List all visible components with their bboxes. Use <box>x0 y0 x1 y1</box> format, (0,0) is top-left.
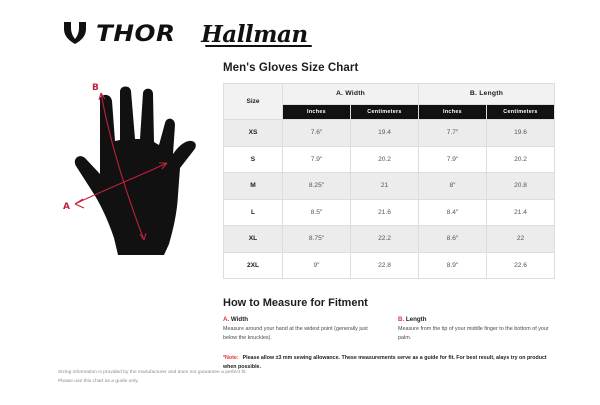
cell-length-centimeters: 22.6 <box>487 252 555 279</box>
how-to-item-width: A. Width Measure around your hand at the… <box>223 316 380 343</box>
column-group-length: B. Length <box>419 84 555 105</box>
cell-size: S <box>224 146 283 173</box>
measure-label-a: A <box>63 202 70 212</box>
how-to-item-length: B. Length Measure from the tip of your m… <box>398 316 555 343</box>
cell-length-centimeters: 22 <box>487 226 555 253</box>
size-chart-panel: Men's Gloves Size Chart Size A. Width B.… <box>223 62 555 371</box>
sizing-note: *Note:Please allow ±3 mm sewing allowanc… <box>223 354 553 371</box>
cell-size: XS <box>224 120 283 147</box>
cell-width-inches: 7.9″ <box>283 146 351 173</box>
cell-length-inches: 8.9″ <box>419 252 487 279</box>
table-row: XS 7.6″ 19.4 7.7″ 19.6 <box>224 120 555 147</box>
measure-label-b: B <box>92 83 99 93</box>
cell-width-centimeters: 21 <box>351 173 419 200</box>
cell-width-centimeters: 19.4 <box>351 120 419 147</box>
how-to-item-length-body: Measure from the tip of your middle fing… <box>398 325 555 343</box>
table-body: XS 7.6″ 19.4 7.7″ 19.6 S 7.9″ 20.2 7.9″ … <box>224 120 555 279</box>
column-header-width-inches: Inches <box>283 104 351 119</box>
cell-length-centimeters: 19.6 <box>487 120 555 147</box>
disclaimer-line-1: Sizing information is provided by the ma… <box>58 368 247 377</box>
cell-length-inches: 8.4″ <box>419 199 487 226</box>
cell-width-inches: 7.6″ <box>283 120 351 147</box>
cell-length-inches: 8″ <box>419 173 487 200</box>
column-header-size: Size <box>224 84 283 120</box>
hand-measurement-diagram: A B <box>56 62 216 262</box>
disclaimer-line-2: Please use this chart as a guide only. <box>58 377 247 386</box>
cell-size: 2XL <box>224 252 283 279</box>
cell-width-inches: 8.5″ <box>283 199 351 226</box>
table-row: M 8.25″ 21 8″ 20.8 <box>224 173 555 200</box>
brand-header: THOR Hallman <box>62 14 308 54</box>
thor-wordmark: THOR <box>96 22 176 47</box>
cell-length-inches: 7.9″ <box>419 146 487 173</box>
cell-length-inches: 8.6″ <box>419 226 487 253</box>
cell-length-centimeters: 20.8 <box>487 173 555 200</box>
column-group-width: A. Width <box>283 84 419 105</box>
how-to-item-width-body: Measure around your hand at the widest p… <box>223 325 380 343</box>
disclaimer: Sizing information is provided by the ma… <box>58 368 247 386</box>
cell-width-inches: 8.25″ <box>283 173 351 200</box>
cell-width-centimeters: 21.6 <box>351 199 419 226</box>
how-to-measure-section: How to Measure for Fitment A. Width Meas… <box>223 297 555 371</box>
sizing-note-text: Please allow ±3 mm sewing allowance. The… <box>223 355 547 370</box>
page-title: Men's Gloves Size Chart <box>223 62 555 74</box>
thor-v-logo-icon <box>62 19 88 50</box>
how-to-measure-title: How to Measure for Fitment <box>223 297 555 309</box>
cell-size: L <box>224 199 283 226</box>
sizing-note-label: *Note: <box>223 355 239 361</box>
how-to-item-length-name: Length <box>404 316 426 323</box>
cell-width-centimeters: 20.2 <box>351 146 419 173</box>
column-header-length-inches: Inches <box>419 104 487 119</box>
table-row: L 8.5″ 21.6 8.4″ 21.4 <box>224 199 555 226</box>
cell-length-centimeters: 21.4 <box>487 199 555 226</box>
thor-logo: THOR <box>62 19 167 50</box>
cell-width-centimeters: 22.2 <box>351 226 419 253</box>
cell-length-inches: 7.7″ <box>419 120 487 147</box>
cell-size: M <box>224 173 283 200</box>
size-chart-table: Size A. Width B. Length Inches Centimete… <box>223 83 555 279</box>
table-row: S 7.9″ 20.2 7.9″ 20.2 <box>224 146 555 173</box>
column-header-width-centimeters: Centimeters <box>351 104 419 119</box>
how-to-item-width-heading: A. Width <box>223 316 380 323</box>
cell-size: XL <box>224 226 283 253</box>
hand-glove-silhouette-icon <box>75 87 196 256</box>
table-header: Size A. Width B. Length Inches Centimete… <box>224 84 555 120</box>
table-header-row-groups: Size A. Width B. Length <box>224 84 555 105</box>
cell-length-centimeters: 20.2 <box>487 146 555 173</box>
how-to-item-width-name: Width <box>229 316 248 323</box>
how-to-item-length-heading: B. Length <box>398 316 555 323</box>
cell-width-inches: 9″ <box>283 252 351 279</box>
cell-width-inches: 8.75″ <box>283 226 351 253</box>
cell-width-centimeters: 22.8 <box>351 252 419 279</box>
table-row: 2XL 9″ 22.8 8.9″ 22.6 <box>224 252 555 279</box>
table-row: XL 8.75″ 22.2 8.6″ 22 <box>224 226 555 253</box>
hallman-logo: Hallman <box>201 21 308 48</box>
column-header-length-centimeters: Centimeters <box>487 104 555 119</box>
